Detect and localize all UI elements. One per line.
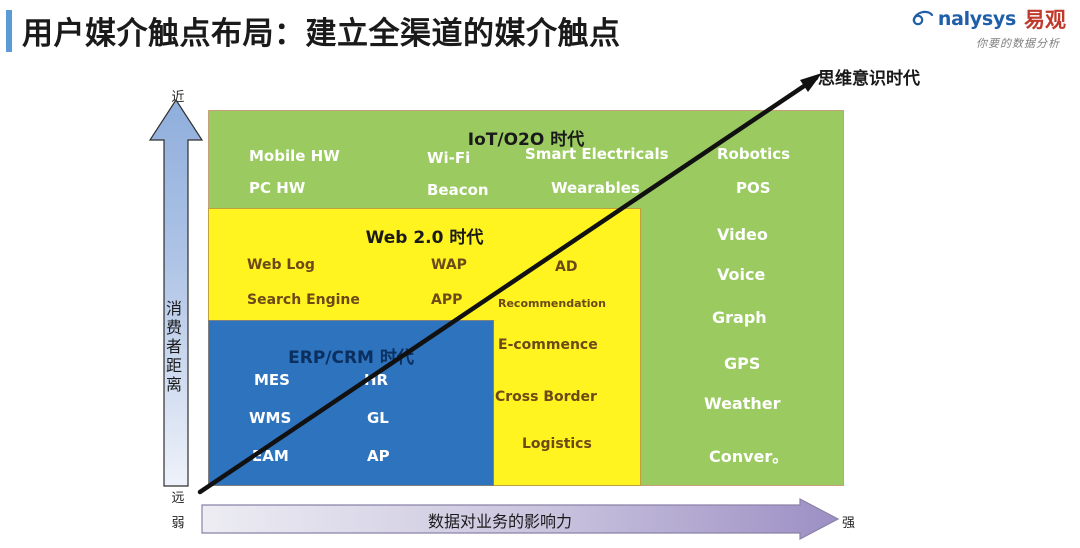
vertical-axis-label: 消费者距离: [160, 300, 184, 395]
era-item: GL: [367, 409, 389, 427]
era-item: Wi-Fi: [427, 149, 470, 167]
era-item: Weather: [704, 394, 781, 413]
era-item: HR: [364, 371, 388, 389]
era-item: AP: [367, 447, 390, 465]
era-item: Robotics: [717, 145, 790, 163]
era-item: Conver。: [709, 443, 788, 467]
era-item: E-commence: [498, 337, 598, 353]
era-item: MES: [254, 371, 290, 389]
analysys-swoosh-icon: [912, 7, 934, 32]
era-item: Wearables: [551, 179, 640, 197]
era-item: EAM: [252, 447, 289, 465]
era-item: Mobile HW: [249, 147, 340, 165]
era-item: Graph: [712, 308, 767, 327]
era-item: Smart Electricals: [525, 145, 669, 163]
vertical-axis-bottom-label: 远: [158, 487, 198, 506]
brand-logo: nalysys 易观 你要的数据分析: [886, 4, 1066, 51]
era-item: Voice: [717, 265, 765, 284]
horizontal-axis-left-label: 弱: [158, 512, 198, 531]
logo-tagline: 你要的数据分析: [886, 35, 1060, 51]
era-item: Logistics: [522, 436, 592, 452]
horizontal-axis-right-label: 强: [842, 512, 855, 531]
era-item: GPS: [724, 354, 760, 373]
era-heading-erpcrm: ERP/CRM 时代: [209, 343, 493, 368]
logo-brand-cn: 易观: [1024, 4, 1066, 34]
era-item: POS: [736, 179, 771, 197]
era-item: PC HW: [249, 179, 305, 197]
diagonal-axis-label: 思维意识时代: [818, 64, 920, 89]
era-item: Recommendation: [498, 297, 606, 310]
slide-root: 用户媒介触点布局：建立全渠道的媒介触点 nalysys 易观 你要的数据分析 近: [0, 0, 1080, 548]
title-accent-bar: [6, 10, 12, 52]
era-item: Beacon: [427, 181, 489, 199]
era-heading-web20: Web 2.0 时代: [209, 223, 640, 248]
up-arrow-icon: [148, 98, 204, 488]
horizontal-axis-label: 数据对业务的影响力: [200, 508, 800, 532]
page-title: 用户媒介触点布局：建立全渠道的媒介触点: [22, 8, 621, 53]
logo-brand-en: nalysys: [938, 8, 1016, 30]
era-item: WAP: [431, 257, 467, 273]
era-item: Search Engine: [247, 292, 360, 308]
era-item: WMS: [249, 409, 291, 427]
era-item: AD: [555, 259, 577, 275]
era-item: Video: [717, 225, 768, 244]
era-block-erpcrm: ERP/CRM 时代 MESHRWMSGLEAMAP: [208, 320, 494, 486]
era-item: Web Log: [247, 257, 315, 273]
era-item: Cross Border: [495, 389, 597, 405]
era-item: APP: [431, 292, 462, 308]
